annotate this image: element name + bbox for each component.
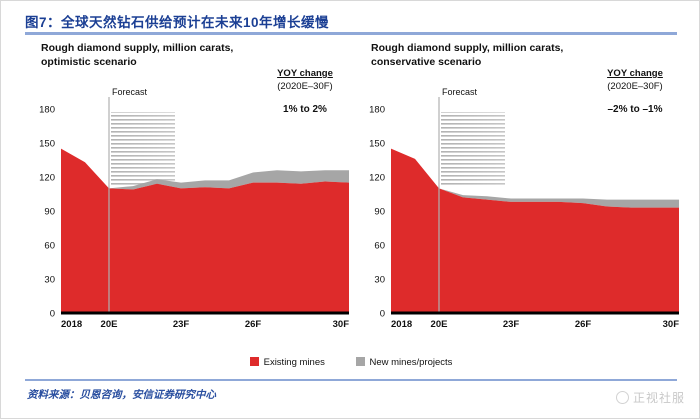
panel-title-conservative: Rough diamond supply, million carats, co… xyxy=(371,41,621,69)
svg-text:26F: 26F xyxy=(575,319,592,330)
chart-panel-optimistic: Rough diamond supply, million carats, op… xyxy=(31,39,361,349)
watermark-text: 正视社服 xyxy=(633,389,685,406)
figure-frame: 图7：全球天然钻石供给预计在未来10年增长缓慢 Rough diamond su… xyxy=(0,0,700,419)
svg-text:0: 0 xyxy=(50,308,55,319)
title-divider xyxy=(25,32,677,35)
watermark: 正视社服 xyxy=(616,389,685,406)
svg-text:180: 180 xyxy=(39,104,55,115)
plot-area-optimistic: 0306090120150180201820E23F26F30F Forecas… xyxy=(31,91,361,341)
svg-text:30F: 30F xyxy=(333,319,350,330)
area-chart-conservative: 0306090120150180201820E23F26F30F xyxy=(361,91,691,341)
forecast-label-optimistic: Forecast xyxy=(112,87,147,97)
legend-item-existing-mines: Existing mines xyxy=(250,357,325,368)
svg-text:30F: 30F xyxy=(663,319,680,330)
legend-item-new-mines: New mines/projects xyxy=(356,357,453,368)
chart-legend: Existing mines New mines/projects xyxy=(1,357,700,368)
yoy-header: YOY change xyxy=(253,67,357,80)
svg-text:30: 30 xyxy=(44,274,55,285)
source-note: 资料来源：贝恩咨询，安信证券研究中心 xyxy=(27,387,216,402)
svg-text:150: 150 xyxy=(39,138,55,149)
svg-text:0: 0 xyxy=(380,308,385,319)
svg-text:180: 180 xyxy=(369,104,385,115)
svg-text:60: 60 xyxy=(44,240,55,251)
yoy-header: YOY change xyxy=(583,67,687,80)
panel-title-line1: Rough diamond supply, million carats, xyxy=(41,41,291,55)
svg-text:20E: 20E xyxy=(431,319,448,330)
svg-text:23F: 23F xyxy=(503,319,520,330)
circle-logo-icon xyxy=(616,391,629,404)
svg-text:90: 90 xyxy=(44,206,55,217)
area-chart-optimistic: 0306090120150180201820E23F26F30F xyxy=(31,91,361,341)
svg-text:23F: 23F xyxy=(173,319,190,330)
svg-text:120: 120 xyxy=(369,172,385,183)
panel-title-line1: Rough diamond supply, million carats, xyxy=(371,41,621,55)
panel-title-optimistic: Rough diamond supply, million carats, op… xyxy=(41,41,291,69)
svg-text:2018: 2018 xyxy=(391,319,412,330)
figure-title: 图7：全球天然钻石供给预计在未来10年增长缓慢 xyxy=(25,11,329,31)
legend-swatch-existing-mines xyxy=(250,357,259,366)
legend-label-new-mines: New mines/projects xyxy=(370,357,453,368)
plot-area-conservative: 0306090120150180201820E23F26F30F Forecas… xyxy=(361,91,691,341)
footer-divider xyxy=(25,379,677,381)
svg-text:120: 120 xyxy=(39,172,55,183)
svg-text:26F: 26F xyxy=(245,319,262,330)
svg-text:30: 30 xyxy=(374,274,385,285)
chart-panel-conservative: Rough diamond supply, million carats, co… xyxy=(361,39,691,349)
svg-text:60: 60 xyxy=(374,240,385,251)
legend-label-existing-mines: Existing mines xyxy=(264,357,325,368)
svg-text:150: 150 xyxy=(369,138,385,149)
forecast-label-conservative: Forecast xyxy=(442,87,477,97)
legend-swatch-new-mines xyxy=(356,357,365,366)
svg-text:90: 90 xyxy=(374,206,385,217)
svg-text:20E: 20E xyxy=(101,319,118,330)
svg-text:2018: 2018 xyxy=(61,319,82,330)
